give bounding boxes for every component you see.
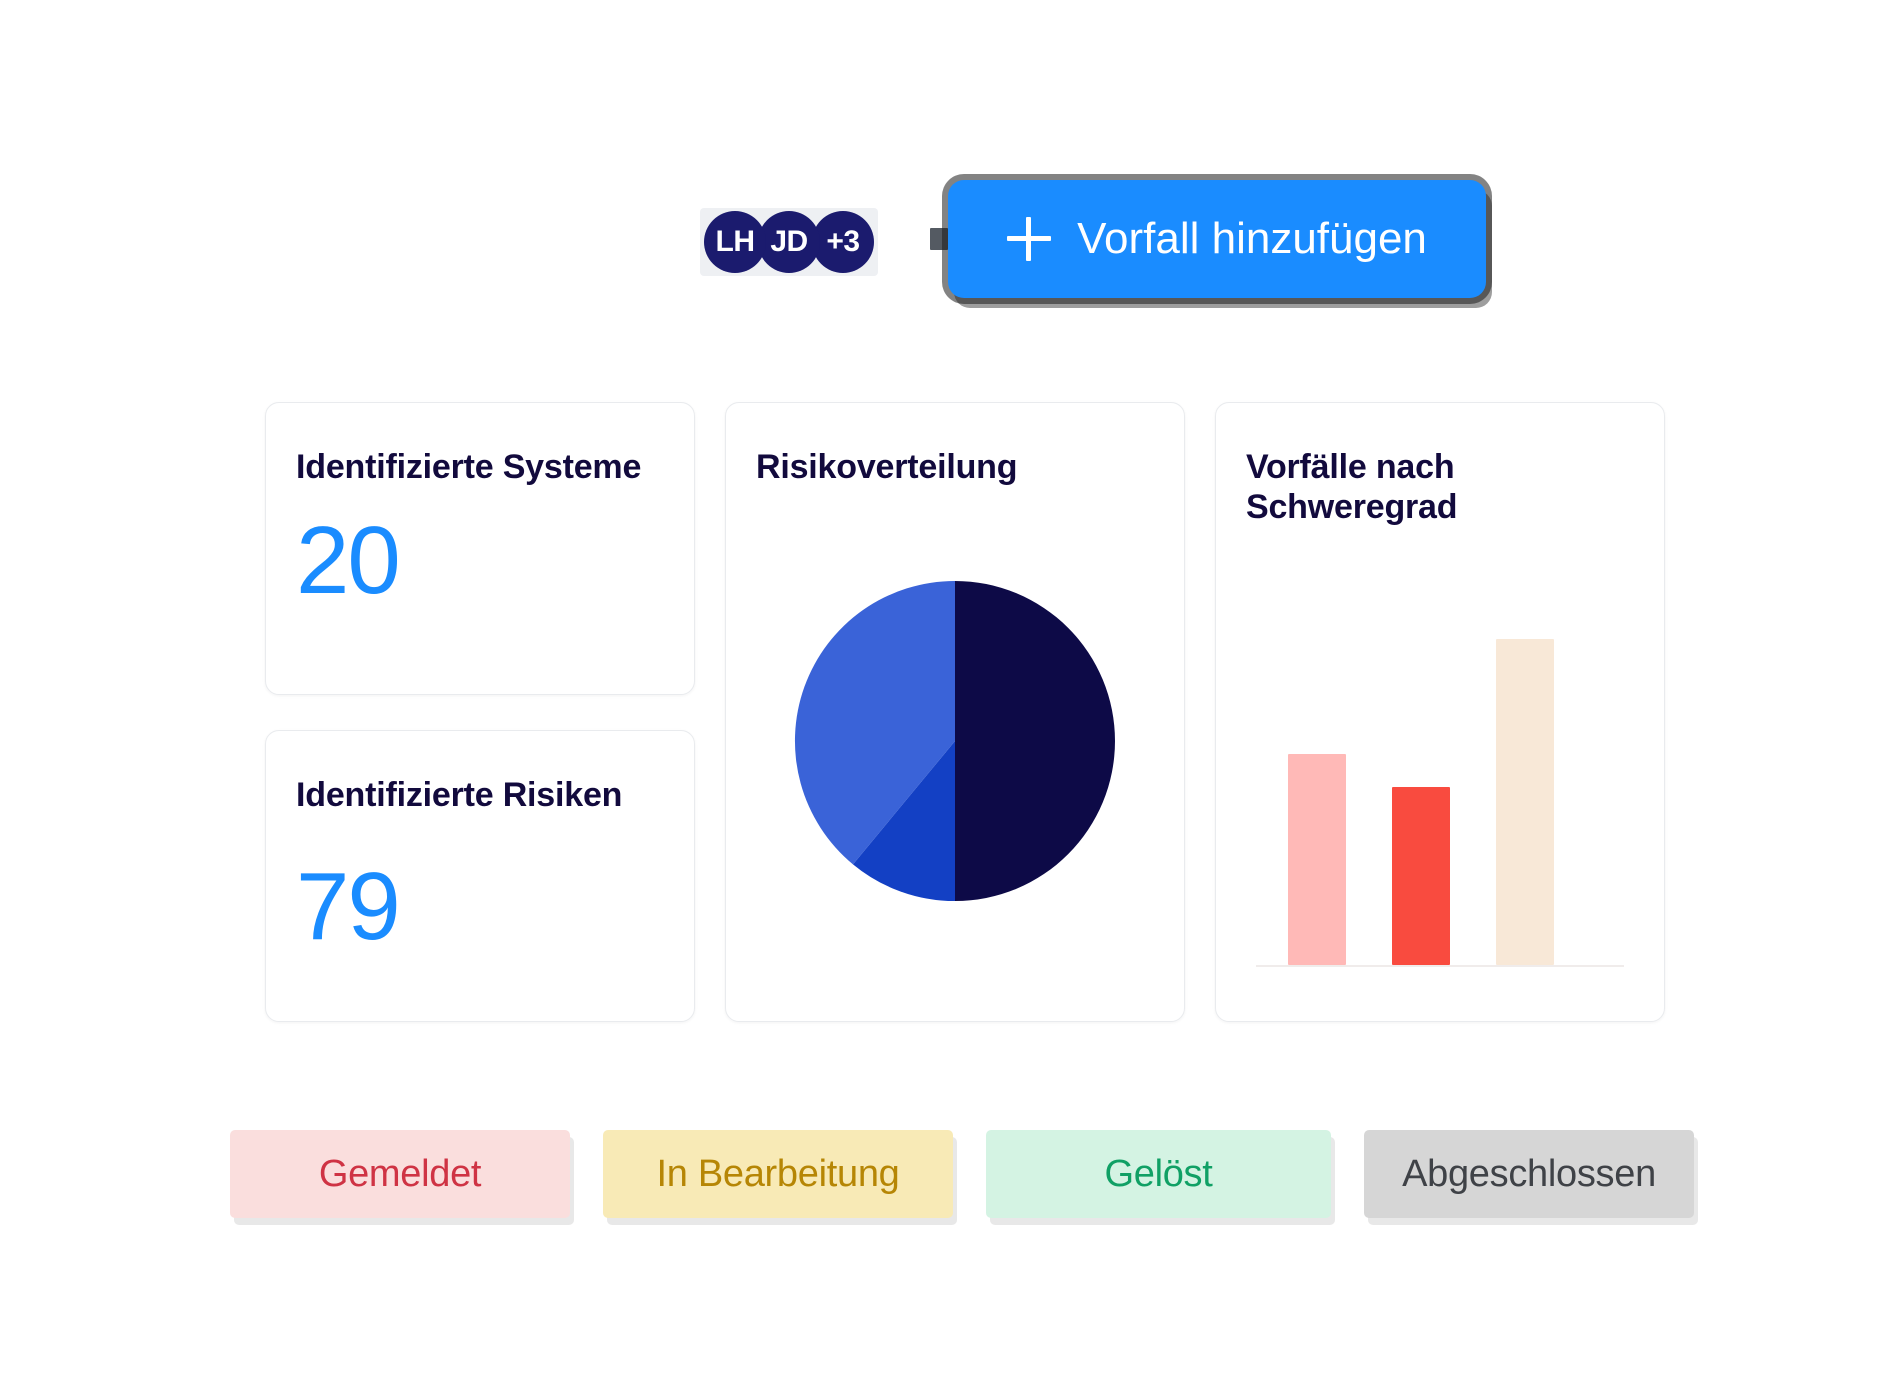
pie-slice (955, 581, 1115, 901)
add-incident-button[interactable]: Vorfall hinzufügen (948, 180, 1486, 298)
bar (1496, 639, 1554, 965)
redacted-block (930, 228, 948, 250)
avatar-group[interactable]: LH JD +3 (700, 208, 878, 276)
pie-chart-container (756, 487, 1154, 995)
card-risk-distribution[interactable]: Risikoverteilung (725, 402, 1185, 1022)
stat-value: 79 (296, 859, 664, 955)
dashboard-cards: Identifizierte Systeme 20 Identifizierte… (265, 402, 1665, 1022)
card-incidents-by-severity[interactable]: Vorfälle nach Schweregrad (1215, 402, 1665, 1022)
card-title: Risikoverteilung (756, 447, 1154, 487)
pie-svg (790, 576, 1120, 906)
add-incident-label: Vorfall hinzufügen (1077, 214, 1427, 264)
dashboard-root: LH JD +3 Vorfall hinzufügen Identifizier… (0, 0, 1900, 1400)
bar-chart-container (1246, 527, 1634, 995)
status-chip-in-progress[interactable]: In Bearbeitung (603, 1130, 953, 1218)
avatar-initials: LH (716, 225, 755, 259)
stat-value: 20 (296, 513, 664, 609)
status-chip-completed[interactable]: Abgeschlossen (1364, 1130, 1694, 1218)
bar (1288, 754, 1346, 965)
status-chip-resolved[interactable]: Gelöst (986, 1130, 1331, 1218)
dashboard-toolbar: LH JD +3 Vorfall hinzufügen (700, 180, 1700, 310)
card-identified-systems[interactable]: Identifizierte Systeme 20 (265, 402, 695, 695)
status-filter-row: Gemeldet In Bearbeitung Gelöst Abgeschlo… (230, 1130, 1694, 1218)
bar-chart-axis-line (1256, 965, 1624, 967)
avatar[interactable]: JD (758, 211, 820, 273)
status-chip-reported[interactable]: Gemeldet (230, 1130, 570, 1218)
status-chip-label: Gemeldet (319, 1153, 481, 1196)
bar-chart-bars (1288, 497, 1604, 965)
status-chip-label: In Bearbeitung (657, 1153, 900, 1196)
status-chip-label: Abgeschlossen (1402, 1153, 1656, 1196)
incidents-severity-bar-chart (1246, 527, 1634, 995)
avatar[interactable]: LH (704, 211, 766, 273)
card-title: Identifizierte Systeme (296, 447, 664, 487)
avatar-initials: JD (770, 225, 807, 259)
avatar-overflow-count[interactable]: +3 (812, 211, 874, 273)
avatar-initials: +3 (826, 225, 859, 259)
risk-distribution-pie-chart (790, 576, 1120, 906)
bar (1392, 787, 1450, 965)
stat-cards-column: Identifizierte Systeme 20 Identifizierte… (265, 402, 695, 1022)
plus-icon (1007, 217, 1051, 261)
status-chip-label: Gelöst (1104, 1153, 1212, 1196)
card-title: Identifizierte Risiken (296, 775, 664, 815)
card-identified-risks[interactable]: Identifizierte Risiken 79 (265, 730, 695, 1023)
